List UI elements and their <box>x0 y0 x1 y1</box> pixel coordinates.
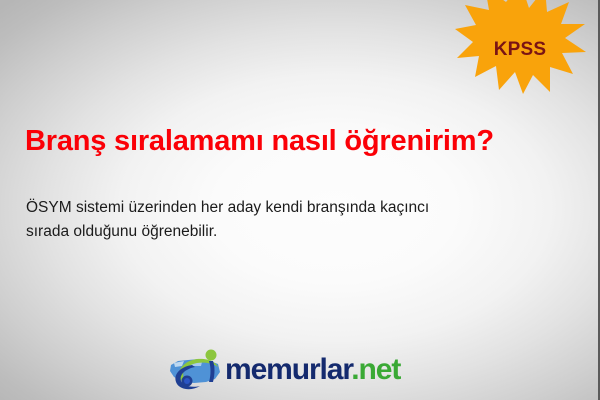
starburst-icon <box>455 0 585 94</box>
logo-wordmark-main: memurlar <box>225 353 351 386</box>
green-dot <box>206 350 217 361</box>
memurlar-net-logo-mark <box>168 348 226 392</box>
page-title: Branş sıralamamı nasıl öğrenirim? <box>25 126 585 157</box>
logo-wordmark: memurlar.net <box>225 355 400 385</box>
body-line-1: ÖSYM sistemi üzerinden her aday kendi br… <box>26 196 566 220</box>
info-card: KPSS Branş sıralamamı nasıl öğrenirim? Ö… <box>0 0 600 400</box>
body-line-2: sırada olduğunu öğrenebilir. <box>26 220 566 244</box>
logo-wordmark-tld: .net <box>351 353 400 386</box>
body-text: ÖSYM sistemi üzerinden her aday kendi br… <box>26 196 566 243</box>
memurlar-net-logo: memurlar.net <box>168 346 432 394</box>
kpss-badge: KPSS <box>455 0 585 94</box>
